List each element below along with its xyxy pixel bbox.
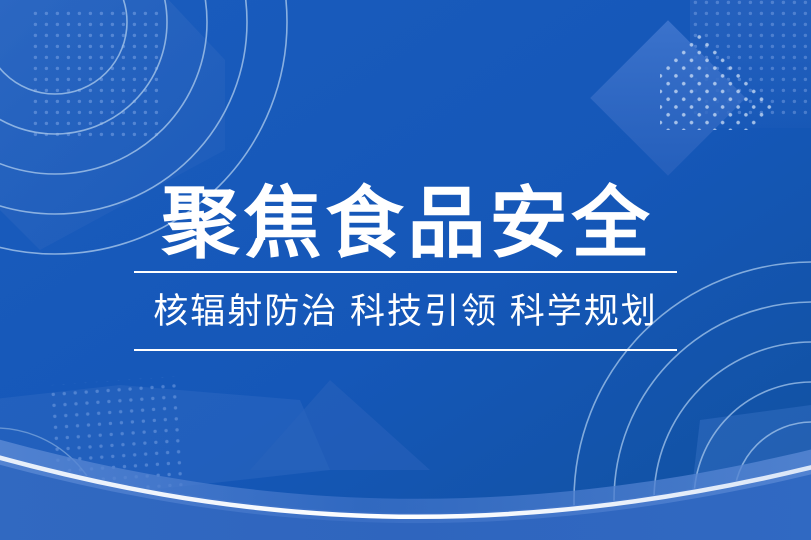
banner-title: 聚焦食品安全: [157, 183, 653, 265]
banner-subtitle: 核辐射防治 科技引领 科学规划: [153, 273, 657, 349]
banner-content: 聚焦食品安全 核辐射防治 科技引领 科学规划: [0, 0, 811, 540]
subtitle-block: 核辐射防治 科技引领 科学规划: [134, 271, 677, 351]
food-safety-banner: 聚焦食品安全 核辐射防治 科技引领 科学规划: [0, 0, 811, 540]
divider-bottom: [134, 349, 677, 351]
